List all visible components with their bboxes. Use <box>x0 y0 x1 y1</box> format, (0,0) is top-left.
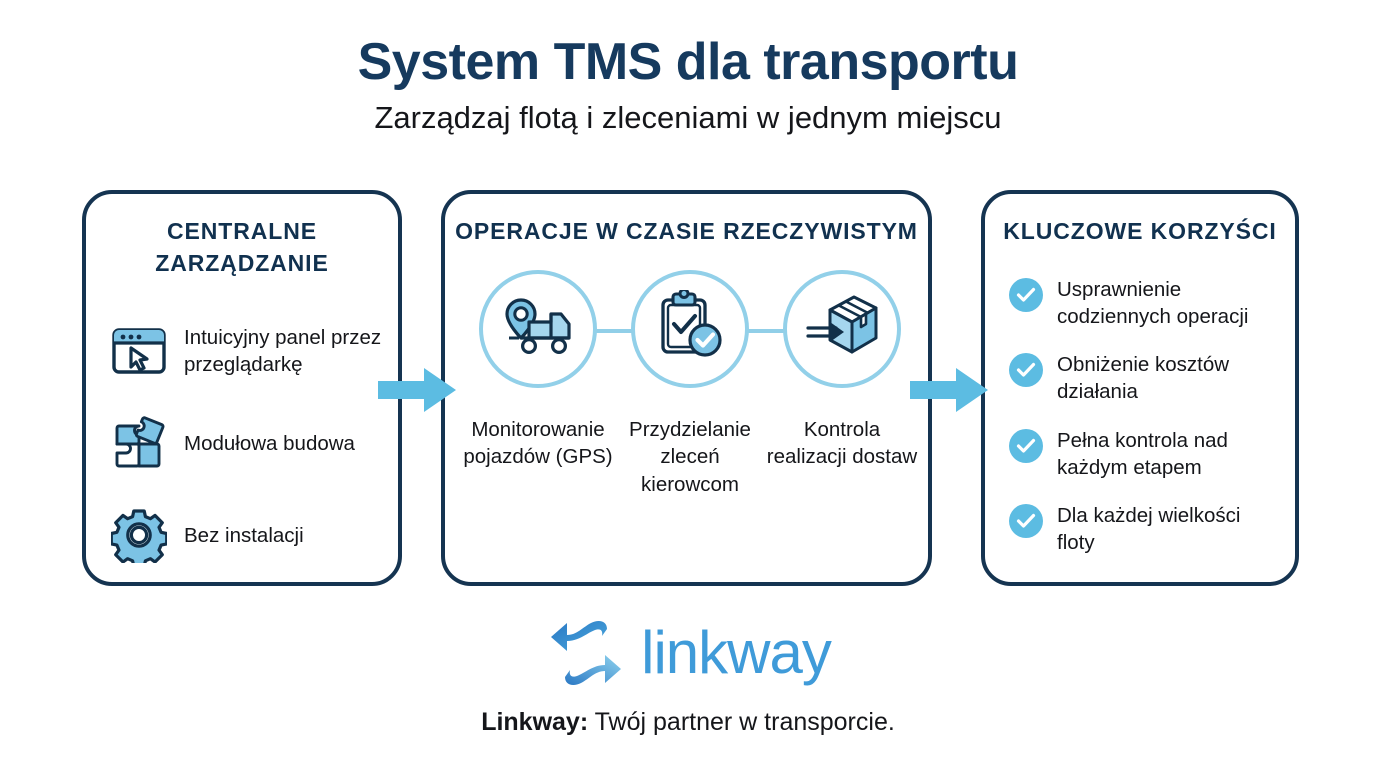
list-item: Dla każdej wielkości floty <box>1009 502 1279 557</box>
flow-step-2-label: Przydzielanie zleceń kierowcom <box>610 416 770 499</box>
list-item: Pełna kontrola nad każdym etapem <box>1009 427 1279 482</box>
footer: linkway Linkway: Twój partner w transpor… <box>0 612 1376 737</box>
list-item: Bez instalacji <box>110 489 384 581</box>
brand-logo: linkway <box>0 612 1376 698</box>
list-item-label: Modułowa budowa <box>184 430 355 457</box>
list-item-label: Pełna kontrola nad każdym etapem <box>1057 427 1279 482</box>
footer-tagline: Linkway: Twój partner w transporcie. <box>0 708 1376 737</box>
arrow-right-icon <box>910 368 988 412</box>
browser-window-cursor-icon <box>110 322 168 380</box>
cards-board: CENTRALNE ZARZĄDZANIE <box>0 190 1376 586</box>
check-circle-icon <box>1009 429 1043 463</box>
clipboard-check-icon <box>655 290 725 367</box>
linkway-swap-arrows-logo-icon <box>545 613 627 698</box>
card-middle-title: OPERACJE W CZASIE RZECZYWISTYM <box>445 216 928 248</box>
list-item-label: Dla każdej wielkości floty <box>1057 502 1279 557</box>
card-right-title: KLUCZOWE KORZYŚCI <box>985 216 1295 248</box>
page-title: System TMS dla transportu <box>0 34 1376 90</box>
list-item: Usprawnienie codziennych operacji <box>1009 276 1279 331</box>
list-item-label: Usprawnienie codziennych operacji <box>1057 276 1279 331</box>
footer-tagline-brand: Linkway: <box>481 708 588 736</box>
flow-step-3-label: Kontrola realizacji dostaw <box>762 416 922 471</box>
gear-icon <box>110 506 168 564</box>
check-circle-icon <box>1009 278 1043 312</box>
truck-gps-pin-icon <box>499 294 577 363</box>
flow-diagram <box>445 270 928 390</box>
flow-step-3 <box>783 270 901 388</box>
flow-labels: Monitorowanie pojazdów (GPS) Przydzielan… <box>445 416 928 526</box>
footer-tagline-rest: Twój partner w transporcie. <box>588 708 895 736</box>
list-item-label: Intuicyjny panel przez przeglądarkę <box>184 324 384 378</box>
list-item: Intuicyjny panel przez przeglądarkę <box>110 305 384 397</box>
check-circle-icon <box>1009 353 1043 387</box>
card-right-benefit-list: Usprawnienie codziennych operacji Obniże… <box>985 276 1295 557</box>
list-item: Obniżenie kosztów działania <box>1009 351 1279 406</box>
flow-step-1-label: Monitorowanie pojazdów (GPS) <box>458 416 618 471</box>
puzzle-pieces-icon <box>110 414 168 472</box>
flow-step-2 <box>631 270 749 388</box>
card-centralne-zarzadzanie: CENTRALNE ZARZĄDZANIE <box>82 190 402 586</box>
header: System TMS dla transportu Zarządzaj flot… <box>0 34 1376 136</box>
list-item-label: Bez instalacji <box>184 522 304 549</box>
package-arrow-icon <box>804 292 880 365</box>
arrow-right-icon <box>378 368 456 412</box>
brand-logo-text: linkway <box>641 623 831 687</box>
card-kluczowe-korzysci: KLUCZOWE KORZYŚCI Usprawnienie codzienny… <box>981 190 1299 586</box>
list-item-label: Obniżenie kosztów działania <box>1057 351 1279 406</box>
infographic-page: System TMS dla transportu Zarządzaj flot… <box>0 0 1376 768</box>
list-item: Modułowa budowa <box>110 397 384 489</box>
flow-step-1 <box>479 270 597 388</box>
card-left-feature-list: Intuicyjny panel przez przeglądarkę <box>86 305 398 581</box>
card-operacje-w-czasie-rzeczywistym: OPERACJE W CZASIE RZECZYWISTYM <box>441 190 932 586</box>
page-subtitle: Zarządzaj flotą i zleceniami w jednym mi… <box>0 100 1376 136</box>
card-left-title: CENTRALNE ZARZĄDZANIE <box>86 216 398 279</box>
check-circle-icon <box>1009 504 1043 538</box>
